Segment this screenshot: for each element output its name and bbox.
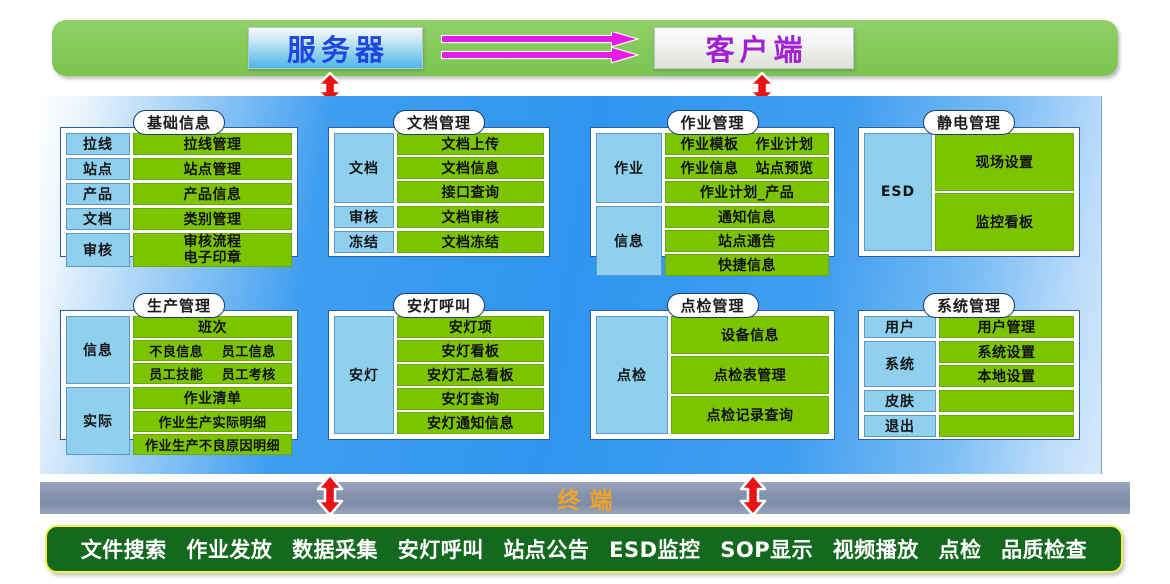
module-job-management: 作业管理 作业 作业模板|作业计划 作业模板 作业计划 作业信息|站点预览 作业… <box>590 110 835 257</box>
group-inspection: 点检 设备信息 点检表管理 点检记录查询 <box>596 316 829 434</box>
row-label: 文档 <box>66 208 130 230</box>
group-label: 审核 <box>334 206 394 228</box>
group-review: 审核 文档审核 <box>334 206 544 228</box>
terminal-func-esd-monitor[interactable]: ESD监控 <box>609 534 700 564</box>
group-label: 点检 <box>596 316 668 434</box>
row-label: 审核 <box>66 233 130 267</box>
menu-item[interactable]: 站点管理 <box>133 158 292 180</box>
client-label: 客户端 <box>700 27 807 69</box>
menu-item[interactable]: 类别管理 <box>133 208 292 230</box>
group-andon: 安灯 安灯项 安灯看板 安灯汇总看板 安灯查询 安灯通知信息 <box>334 316 544 434</box>
module-title-esd-management: 静电管理 <box>923 110 1015 135</box>
module-frame-system-management: 用户 用户管理 系统 系统设置 本地设置 皮肤 退出 <box>858 310 1080 440</box>
group-label: 冻结 <box>334 231 394 253</box>
menu-item[interactable]: 系统设置 <box>939 341 1074 363</box>
module-title-production-management: 生产管理 <box>133 293 225 318</box>
module-frame-esd-management: ESD 现场设置 监控看板 <box>858 127 1080 257</box>
menu-item[interactable]: 安灯查询 <box>397 388 544 410</box>
group-info: 信息 通知信息 站点通告 快捷信息 <box>596 206 829 276</box>
menu-item[interactable]: 安灯汇总看板 <box>397 364 544 386</box>
menu-item[interactable]: 作业生产不良原因明细 <box>133 434 292 455</box>
module-title-andon-call: 安灯呼叫 <box>393 293 485 318</box>
module-inspection-management: 点检管理 点检 设备信息 点检表管理 点检记录查询 <box>590 293 835 440</box>
menu-item[interactable]: 本地设置 <box>939 365 1074 387</box>
group-label: 文档 <box>334 133 394 203</box>
group-label: 信息 <box>596 206 662 276</box>
menu-item-b[interactable]: 站点预览 <box>756 158 814 178</box>
menu-item-pair[interactable]: 员工技能|员工考核 员工技能 员工考核 <box>133 363 292 384</box>
module-andon-call: 安灯呼叫 安灯 安灯项 安灯看板 安灯汇总看板 安灯查询 安灯通知信息 <box>328 293 550 440</box>
module-frame-production-management: 信息 班次 不良信息|员工信息 不良信息 员工信息 员工技能|员工考核 员工技能… <box>60 310 298 440</box>
client-node[interactable]: 客户端 <box>654 27 854 69</box>
terminal-func-quality-check[interactable]: 品质检查 <box>1001 534 1087 564</box>
menu-item[interactable]: 审核流程电子印章 <box>133 233 292 267</box>
module-frame-doc-management: 文档 文档上传 文档信息 接口查询 审核 文档审核 冻结 文档冻结 <box>328 127 550 257</box>
terminal-func-site-notice[interactable]: 站点公告 <box>503 534 589 564</box>
group-info: 信息 班次 不良信息|员工信息 不良信息 员工信息 员工技能|员工考核 员工技能… <box>66 316 292 384</box>
terminal-link-arrow-right <box>735 474 771 520</box>
menu-item-a[interactable]: 作业模板 <box>681 134 739 154</box>
terminal-func-andon-call[interactable]: 安灯呼叫 <box>398 534 484 564</box>
terminal-func-file-search[interactable]: 文件搜索 <box>81 534 167 564</box>
menu-item[interactable]: 设备信息 <box>671 316 829 354</box>
menu-item[interactable]: 产品信息 <box>133 183 292 205</box>
menu-item-b[interactable]: 作业计划 <box>756 134 814 154</box>
menu-item[interactable]: 拉线管理 <box>133 133 292 155</box>
table-row: 审核 审核流程电子印章 <box>66 233 292 267</box>
module-production-management: 生产管理 信息 班次 不良信息|员工信息 不良信息 员工信息 员工技能|员工考核… <box>60 293 298 440</box>
module-title-doc-management: 文档管理 <box>393 110 485 135</box>
system-modules-panel: 基础信息 拉线 拉线管理 站点 站点管理 产品 产品信息 文档 类别管理 <box>40 96 1102 474</box>
module-title-inspection-management: 点检管理 <box>666 293 758 318</box>
menu-item[interactable]: 文档审核 <box>397 206 544 228</box>
group-label: 安灯 <box>334 316 394 434</box>
menu-item[interactable] <box>939 390 1074 412</box>
terminal-link-arrow-left <box>312 474 348 520</box>
menu-item-b[interactable]: 员工考核 <box>222 364 276 383</box>
row-label: 用户 <box>864 316 936 338</box>
terminal-func-inspection[interactable]: 点检 <box>938 534 981 564</box>
group-label: ESD <box>864 133 932 251</box>
module-title-system-management: 系统管理 <box>923 293 1015 318</box>
menu-item[interactable]: 通知信息 <box>665 206 829 228</box>
group-label: 实际 <box>66 387 130 455</box>
server-node[interactable]: 服务器 <box>248 27 423 69</box>
menu-item[interactable]: 作业计划_产品 <box>665 181 829 203</box>
group-job: 作业 作业模板|作业计划 作业模板 作业计划 作业信息|站点预览 作业信息 站点… <box>596 133 829 203</box>
terminal-func-sop-display[interactable]: SOP显示 <box>720 534 813 564</box>
menu-item[interactable]: 接口查询 <box>397 181 544 203</box>
table-row: 皮肤 <box>864 390 1074 412</box>
module-esd-management: 静电管理 ESD 现场设置 监控看板 <box>858 110 1080 257</box>
group-esd: ESD 现场设置 监控看板 <box>864 133 1074 251</box>
table-row: 系统 系统设置 本地设置 <box>864 341 1074 387</box>
menu-item-b[interactable]: 员工信息 <box>222 341 276 360</box>
menu-item[interactable]: 作业生产实际明细 <box>133 411 292 432</box>
group-label: 作业 <box>596 133 662 203</box>
group-freeze: 冻结 文档冻结 <box>334 231 544 253</box>
menu-item[interactable]: 用户管理 <box>939 316 1074 338</box>
table-row: 拉线 拉线管理 <box>66 133 292 155</box>
menu-item[interactable]: 现场设置 <box>935 133 1074 191</box>
server-label: 服务器 <box>282 27 389 69</box>
terminal-func-job-dispatch[interactable]: 作业发放 <box>186 534 272 564</box>
menu-item[interactable]: 班次 <box>133 316 292 338</box>
module-frame-basic-info: 拉线 拉线管理 站点 站点管理 产品 产品信息 文档 类别管理 审核 审核流 <box>60 127 298 257</box>
row-label: 退出 <box>864 415 936 437</box>
menu-item-pair[interactable]: 作业信息|站点预览 作业信息 站点预览 <box>665 157 829 179</box>
menu-item-a[interactable]: 员工技能 <box>149 364 203 383</box>
terminal-bar: 终端 <box>40 482 1130 514</box>
menu-item[interactable]: 安灯项 <box>397 316 544 338</box>
group-label: 信息 <box>66 316 130 384</box>
menu-item[interactable]: 站点通告 <box>665 230 829 252</box>
menu-item-pair[interactable]: 不良信息|员工信息 不良信息 员工信息 <box>133 340 292 361</box>
table-row: 产品 产品信息 <box>66 183 292 205</box>
row-label: 站点 <box>66 158 130 180</box>
module-frame-job-management: 作业 作业模板|作业计划 作业模板 作业计划 作业信息|站点预览 作业信息 站点… <box>590 127 835 257</box>
menu-item[interactable]: 点检表管理 <box>671 356 829 394</box>
menu-item-a[interactable]: 不良信息 <box>149 341 203 360</box>
menu-item-a[interactable]: 作业信息 <box>681 158 739 178</box>
table-row: 退出 <box>864 415 1074 437</box>
module-frame-andon-call: 安灯 安灯项 安灯看板 安灯汇总看板 安灯查询 安灯通知信息 <box>328 310 550 440</box>
double-right-arrow-icon <box>440 32 640 64</box>
terminal-function-bar: 文件搜索 作业发放 数据采集 安灯呼叫 站点公告 ESD监控 SOP显示 视频播… <box>45 525 1123 573</box>
group-doc: 文档 文档上传 文档信息 接口查询 <box>334 133 544 203</box>
menu-item[interactable]: 安灯通知信息 <box>397 412 544 434</box>
table-row: 站点 站点管理 <box>66 158 292 180</box>
row-label: 拉线 <box>66 133 130 155</box>
group-actual: 实际 作业清单 作业生产实际明细 作业生产不良原因明细 <box>66 387 292 455</box>
terminal-label: 终端 <box>549 481 622 515</box>
server-client-flow-arrows <box>440 32 640 64</box>
menu-item[interactable]: 点检记录查询 <box>671 396 829 434</box>
menu-item[interactable]: 监控看板 <box>935 193 1074 251</box>
menu-item[interactable]: 文档冻结 <box>397 231 544 253</box>
menu-item[interactable]: 安灯看板 <box>397 340 544 362</box>
menu-item[interactable]: 快捷信息 <box>665 254 829 276</box>
table-row: 文档 类别管理 <box>66 208 292 230</box>
row-label: 产品 <box>66 183 130 205</box>
menu-item[interactable]: 文档信息 <box>397 157 544 179</box>
menu-item[interactable]: 文档上传 <box>397 133 544 155</box>
menu-item-pair[interactable]: 作业模板|作业计划 作业模板 作业计划 <box>665 133 829 155</box>
module-system-management: 系统管理 用户 用户管理 系统 系统设置 本地设置 皮肤 <box>858 293 1080 440</box>
row-label: 系统 <box>864 341 936 387</box>
terminal-func-data-collect[interactable]: 数据采集 <box>292 534 378 564</box>
module-doc-management: 文档管理 文档 文档上传 文档信息 接口查询 审核 文档审核 冻结 文档 <box>328 110 550 257</box>
module-frame-inspection-management: 点检 设备信息 点检表管理 点检记录查询 <box>590 310 835 440</box>
row-label: 皮肤 <box>864 390 936 412</box>
top-architecture-bar: 服务器 客户端 <box>52 20 1118 76</box>
module-title-basic-info: 基础信息 <box>133 110 225 135</box>
module-title-job-management: 作业管理 <box>666 110 758 135</box>
module-basic-info: 基础信息 拉线 拉线管理 站点 站点管理 产品 产品信息 文档 类别管理 <box>60 110 298 257</box>
menu-item[interactable]: 作业清单 <box>133 387 292 409</box>
table-row: 用户 用户管理 <box>864 316 1074 338</box>
terminal-func-video-play[interactable]: 视频播放 <box>833 534 919 564</box>
menu-item[interactable] <box>939 415 1074 437</box>
